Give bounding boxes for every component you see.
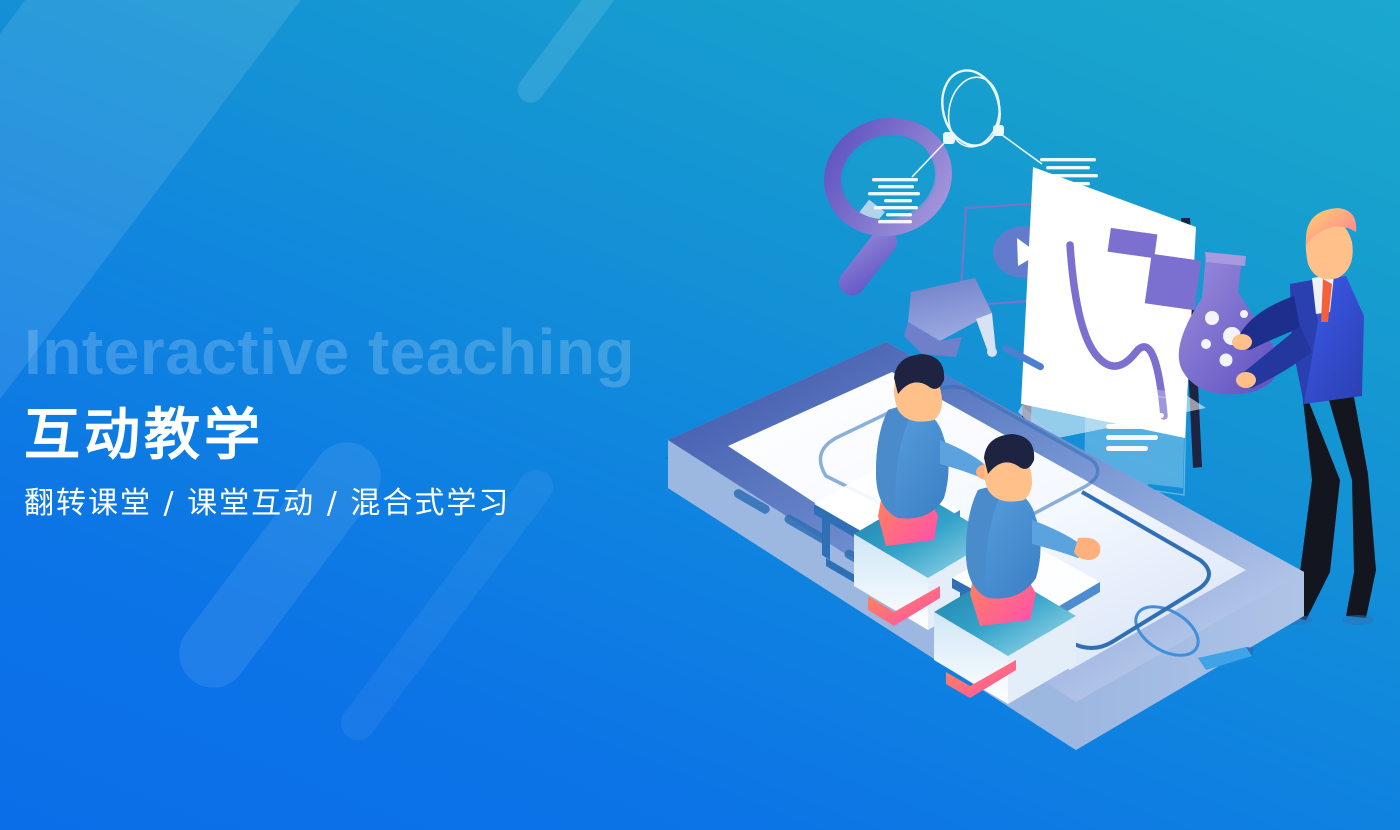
interactive-teaching-banner: Interactive teaching 互动教学 翻转课堂 / 课堂互动 / … xyxy=(0,0,1400,830)
page-title: 互动教学 xyxy=(24,406,744,466)
illustration-isometric-classroom xyxy=(640,60,1400,800)
page-subtitle: 翻转课堂 / 课堂互动 / 混合式学习 xyxy=(24,486,744,522)
ghost-title: Interactive teaching xyxy=(24,320,744,384)
graduation-cap-icon xyxy=(904,278,997,357)
decor-capsule-small xyxy=(512,0,623,108)
banner-copy: Interactive teaching 互动教学 翻转课堂 / 课堂互动 / … xyxy=(24,320,744,522)
